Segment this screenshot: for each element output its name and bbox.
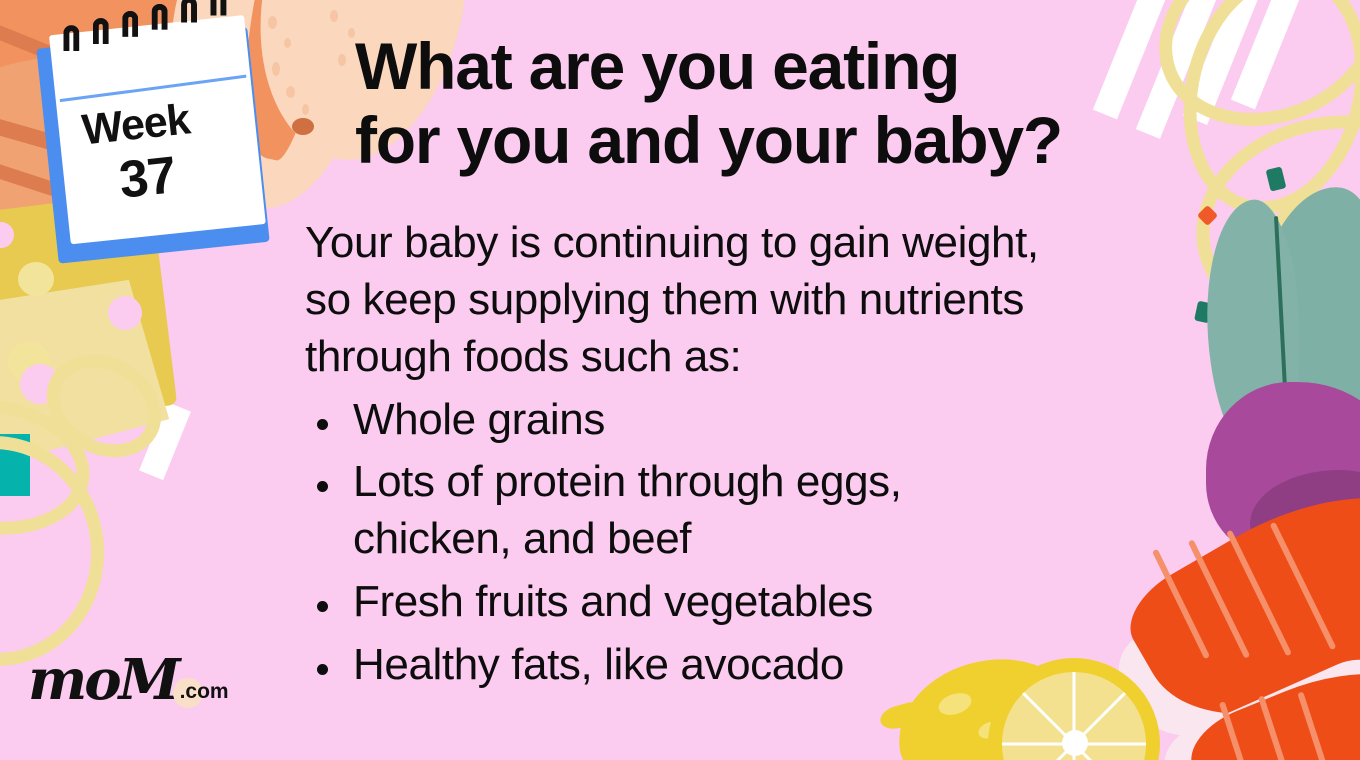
bread-crumb-dot (284, 38, 291, 48)
cheese-hole (0, 222, 14, 248)
pasta-noodle-icon (1131, 0, 1360, 159)
leafy-greens-icon (1271, 219, 1360, 483)
salmon-stripe (1219, 701, 1251, 760)
beet-stem (1280, 495, 1329, 568)
calendar-ring-icon (181, 0, 197, 23)
cheese-wedge-icon (0, 242, 183, 483)
cheese-hole (108, 296, 142, 330)
white-stripe-icon (1183, 0, 1267, 125)
logo-dot: .com (180, 680, 229, 704)
teal-block-icon (0, 434, 30, 496)
headline-line-1: What are you eating (355, 29, 959, 103)
salmon-stripe (1258, 695, 1292, 760)
page-title: What are you eating for you and your bab… (355, 30, 1155, 178)
bread-crumb-dot (268, 16, 277, 29)
cheese-hole (18, 262, 54, 296)
lemon-highlight (976, 718, 1006, 741)
pasta-noodle-icon (28, 334, 180, 477)
body-copy: Your baby is continuing to gain weight, … (305, 214, 1265, 693)
calendar-ring-icon (63, 25, 79, 51)
body-paragraph-line: so keep supplying them with nutrients (305, 271, 1265, 328)
bread-crumb-dot (292, 118, 314, 135)
calendar-ring-icon (210, 0, 226, 16)
food-list: Whole grains Lots of protein through egg… (305, 392, 1265, 694)
pasta-noodle-icon (0, 425, 115, 676)
pasta-noodle-icon (1158, 0, 1360, 234)
infographic-card: Week 37 What are you eating for you and … (0, 0, 1360, 760)
salmon-stripe (1297, 691, 1332, 760)
white-stripe-icon (1231, 0, 1311, 109)
bread-crumb-dot (330, 10, 338, 22)
white-stripe-icon (139, 402, 191, 480)
logo-tld: .com (180, 680, 229, 703)
salmon-stripe (1270, 522, 1337, 650)
headline-line-2: for you and your baby? (355, 103, 1062, 177)
list-item: Lots of protein through eggs, chicken, a… (305, 454, 1265, 568)
calendar-ring-icon (152, 4, 168, 30)
list-item: Healthy fats, like avocado (305, 637, 1265, 694)
bread-crumb-dot (302, 104, 309, 115)
bread-crumb-dot (272, 62, 280, 76)
cheese-hole (8, 342, 50, 382)
lemon-core (1062, 730, 1088, 756)
calendar-ring-icon (122, 11, 138, 37)
body-paragraph-line: through foods such as: (305, 328, 1265, 385)
confetti-dot (1266, 166, 1287, 191)
body-paragraph-line: Your baby is continuing to gain weight, (305, 214, 1265, 271)
cheese-hole (20, 364, 60, 404)
bread-crumb-dot (338, 54, 346, 66)
leaf-vein (1274, 216, 1290, 446)
week-calendar: Week 37 (23, 11, 268, 261)
lemon-tip (878, 701, 919, 732)
calendar-ring-icon (93, 18, 109, 44)
lemon-highlight (936, 689, 975, 719)
bread-crumb-dot (348, 28, 355, 38)
list-item: Fresh fruits and vegetables (305, 574, 1265, 631)
logo-wordmark: moM (28, 652, 178, 708)
beet-shadow (1250, 470, 1360, 560)
mom-com-logo[interactable]: moM .com (28, 652, 229, 708)
bread-crumb-dot (286, 86, 295, 98)
pasta-noodle-icon (0, 387, 98, 547)
list-item: Whole grains (305, 392, 1265, 449)
